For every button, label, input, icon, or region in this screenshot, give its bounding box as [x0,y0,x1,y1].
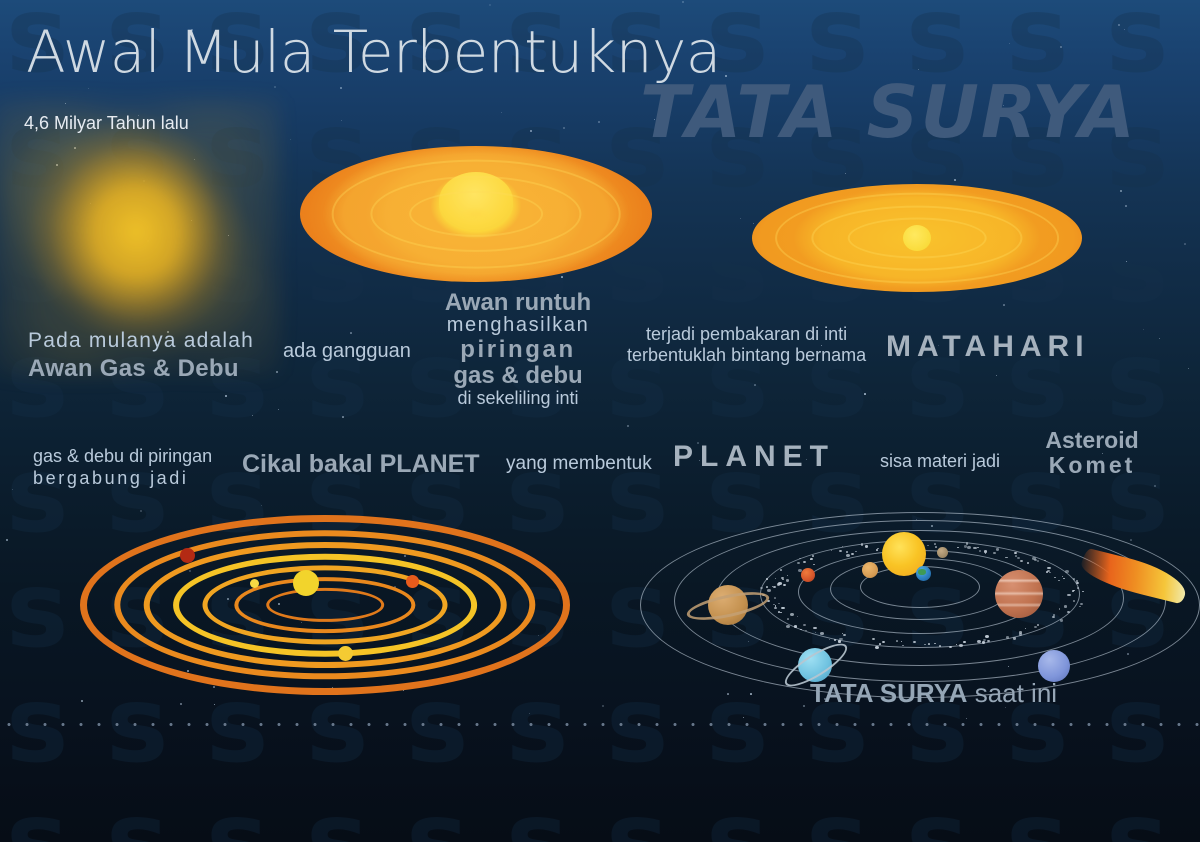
caption-cloud: Pada mulanya adalah Awan Gas & Debu [28,330,254,381]
infographic-canvas: ssssssssssssssssssssssssssssssssssssssss… [0,0,1200,842]
caption-small-bodies: Asteroid Komet [1016,428,1168,477]
protoplanetary-rings-illustration [80,515,570,695]
protoplanet-yellow [338,646,353,661]
timeline-note: 4,6 Milyar Tahun lalu [24,113,189,134]
body-mars [801,568,815,582]
caption-fusion: terjadi pembakaran di inti terbentuklah … [627,325,866,365]
protoplanet-red [180,548,195,563]
protoplanet-small-yellow [250,579,259,588]
caption-disturbance: ada gangguan [283,341,411,362]
caption-accretion: gas & debu di piringan bergabung jadi [33,447,212,488]
solar-system-label: TATA SURYA saat ini [810,678,1057,709]
protoplanet-core [293,570,319,596]
disk-rings [752,184,1082,292]
gas-dust-cloud-illustration [6,112,266,362]
caption-planet: PLANET [673,441,835,473]
caption-matahari: MATAHARI [886,331,1090,363]
page-title: Awal Mula Terbentuknya [26,18,721,86]
protoplanet-orange [406,575,419,588]
page-title-accent: TATA SURYA [640,70,1137,154]
protostar-disk-illustration [752,184,1082,292]
disk-rings [300,146,652,282]
caption-leftover: sisa materi jadi [880,452,1000,471]
body-jupiter [995,570,1043,618]
caption-protoplanet: Cikal bakal PLANET [242,451,480,477]
caption-forming: yang membentuk [506,454,652,474]
body-bumi-land [918,569,926,575]
caption-collapse: Awan runtuh menghasilkan piringan gas & … [430,290,606,407]
footer: LANGITSELATAN ASTRO 101 langitselatan in… [0,726,1200,842]
collapsing-cloud-disk-illustration [300,146,652,282]
body-merkurius [937,547,948,558]
body-venus [862,562,878,578]
